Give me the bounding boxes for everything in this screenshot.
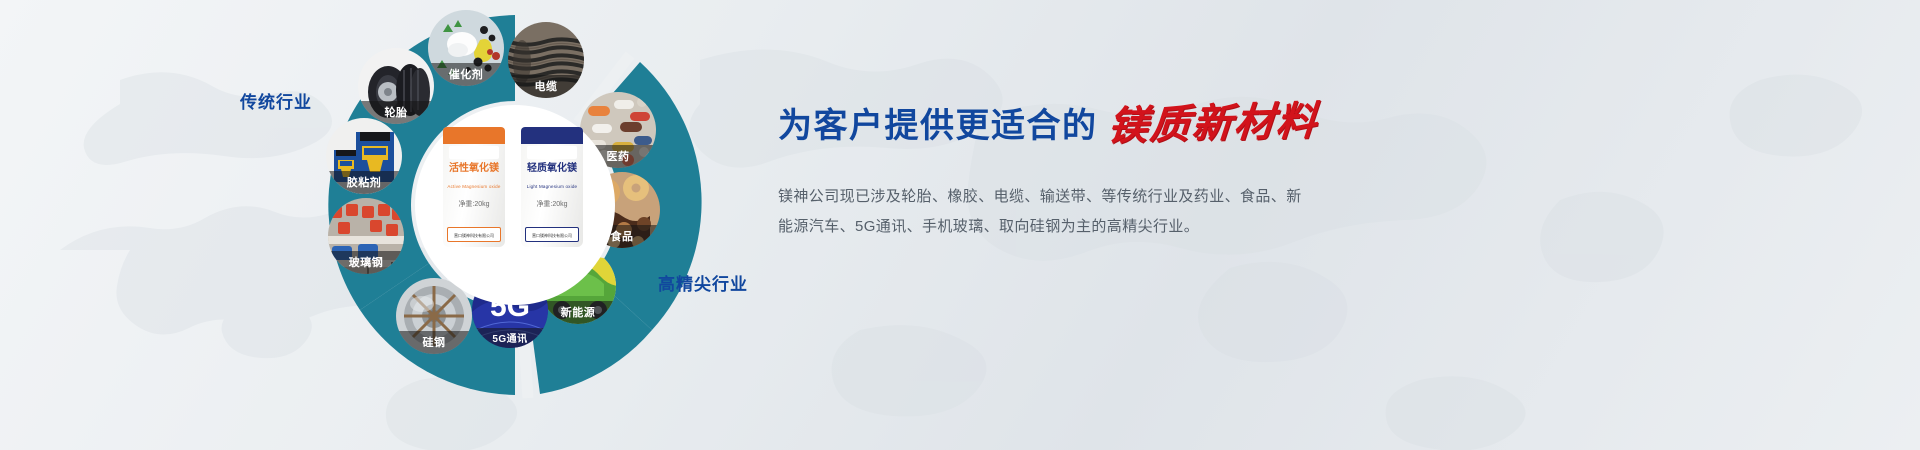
bag-top-band (443, 127, 505, 144)
product-hub: 活性氧化镁 Active Magnesium oxide 净重:20kg 营口镁… (415, 105, 615, 305)
bag-subtitle: Active Magnesium oxide (446, 184, 502, 189)
node-label: 胶粘剂 (326, 171, 402, 194)
tag-hightech-industries: 高精尖行业 (658, 270, 748, 295)
node-label: 5G通讯 (472, 328, 548, 348)
node-cable[interactable]: 电缆 (508, 22, 584, 98)
banner-copy: 为客户提供更适合的 镁质新材料 镁神公司现已涉及轮胎、橡胶、电缆、输送带、等传统… (778, 104, 1398, 242)
node-label: 电缆 (508, 75, 584, 98)
node-label: 玻璃钢 (328, 251, 404, 274)
node-label: 新能源 (540, 301, 616, 324)
bag-subtitle: Light Magnesium oxide (524, 184, 580, 189)
node-label: 催化剂 (428, 63, 504, 86)
bag-footer: 营口镁神科技有限公司 (525, 227, 579, 242)
banner-paragraph: 镁神公司现已涉及轮胎、橡胶、电缆、输送带、等传统行业及药业、食品、新 能源汽车、… (778, 182, 1278, 242)
bag-top-band (521, 127, 583, 144)
headline: 为客户提供更适合的 镁质新材料 (778, 104, 1398, 144)
bag-title: 活性氧化镁 (446, 163, 502, 183)
paragraph-line-2: 能源汽车、5G通讯、手机玻璃、取向硅钢为主的高精尖行业。 (778, 212, 1278, 242)
headline-main-text: 为客户提供更适合的 (778, 109, 1098, 143)
tag-traditional-industries: 传统行业 (240, 88, 312, 113)
node-tire[interactable]: 轮胎 (358, 48, 434, 124)
paragraph-line-1: 镁神公司现已涉及轮胎、橡胶、电缆、输送带、等传统行业及药业、食品、新 (778, 182, 1278, 212)
headline-brush-text: 镁质新材料 (1106, 101, 1320, 146)
bag-logo (449, 146, 499, 159)
bag-title: 轻质氧化镁 (524, 163, 580, 183)
bag-weight: 净重:20kg (443, 199, 505, 209)
product-bag-active-mgo[interactable]: 活性氧化镁 Active Magnesium oxide 净重:20kg 营口镁… (443, 127, 505, 247)
bag-weight: 净重:20kg (521, 199, 583, 209)
bag-footer: 营口镁神科技有限公司 (447, 227, 501, 242)
node-catalyst[interactable]: 催化剂 (428, 10, 504, 86)
industry-wheel-infographic: 传统行业 高精尖行业 轮胎 (300, 0, 780, 450)
product-bag-light-mgo[interactable]: 轻质氧化镁 Light Magnesium oxide 净重:20kg 营口镁神… (521, 127, 583, 247)
node-label: 硅钢 (396, 331, 472, 354)
node-adhesive[interactable]: 胶粘剂 (326, 118, 402, 194)
node-frp[interactable]: 玻璃钢 (328, 198, 404, 274)
bag-logo (527, 146, 577, 159)
